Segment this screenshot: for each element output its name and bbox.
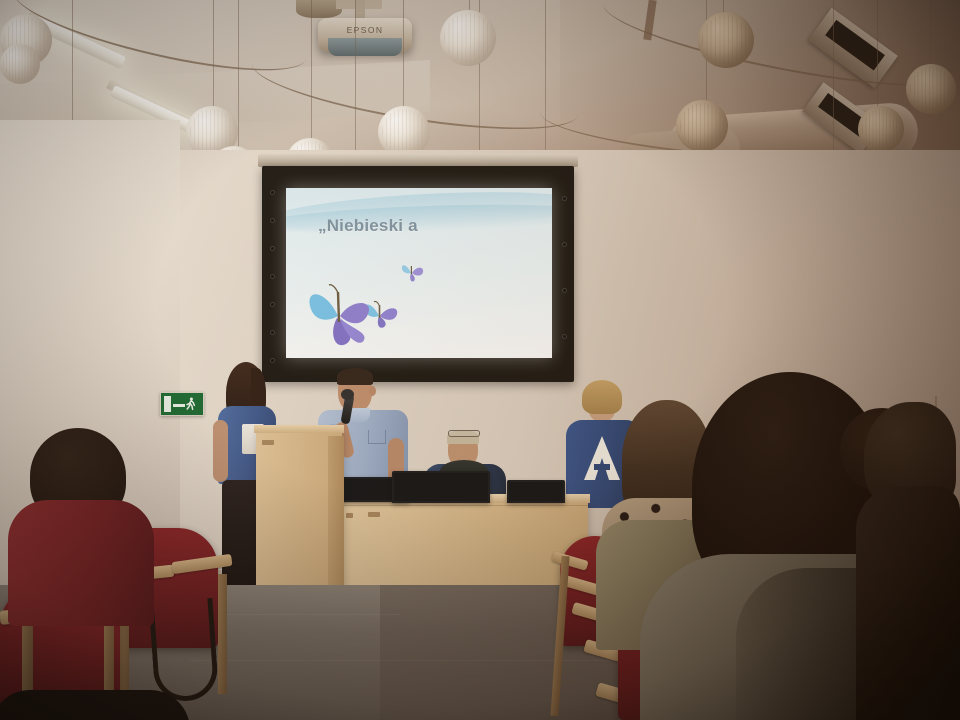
lantern-wire-3: [238, 0, 239, 148]
microphone-head-icon: [341, 389, 354, 400]
screen-grommet: [270, 330, 275, 335]
table-latch: [368, 512, 380, 517]
laptop-right-screen: [509, 482, 563, 501]
glasses-on-head-icon: [448, 430, 480, 437]
audience-right-dark: [856, 402, 960, 720]
lantern-wire-8: [545, 0, 546, 168]
bag-strap: [149, 598, 220, 703]
butterfly-large-icon: [304, 276, 380, 358]
presentation-slide: „Niebieski a: [286, 188, 552, 358]
projection-screen: „Niebieski a: [262, 166, 574, 382]
lantern-wire-12: [877, 0, 878, 106]
lantern-wire-14: [355, 0, 356, 160]
paper-lantern-9: [440, 10, 496, 66]
speaker-man-hair: [337, 368, 373, 385]
laptop-center[interactable]: [392, 471, 490, 503]
screen-grommet: [270, 274, 275, 279]
screen-grommet: [270, 302, 275, 307]
presenter-woman-arm: [213, 420, 228, 482]
screen-grommet: [270, 190, 275, 195]
table-latch: [346, 513, 353, 518]
table-seam: [340, 505, 588, 506]
audience-left-top: [8, 500, 154, 626]
podium-latch: [262, 440, 274, 445]
speaker-man-ear: [369, 386, 376, 396]
conference-hall-photo: EPSON: [0, 0, 960, 720]
paper-lantern-2: [0, 44, 40, 84]
butterfly-small-icon: [398, 260, 428, 291]
screen-grommet: [270, 218, 275, 223]
screen-grommet: [562, 334, 567, 339]
paper-lantern-13: [676, 100, 728, 152]
lantern-wire-2: [213, 0, 214, 108]
screen-grommet: [562, 242, 567, 247]
laptop-center-screen: [394, 473, 488, 501]
foreground-silhouette-left: [0, 690, 190, 720]
audience-right-body: [856, 486, 960, 720]
paper-lantern-12: [698, 12, 754, 68]
podium-top-surface: [254, 425, 344, 433]
paper-lantern-15: [858, 106, 904, 152]
audience-left-red: [8, 428, 158, 628]
screen-grommet: [562, 196, 567, 201]
paper-lantern-14: [906, 64, 956, 114]
exit-arrow-icon: [173, 404, 185, 407]
lantern-wire-13: [930, 0, 931, 68]
laptop-right[interactable]: [507, 480, 565, 503]
chair-leg: [218, 574, 227, 694]
projector-brand-label: EPSON: [318, 25, 412, 35]
screen-grommet: [270, 246, 275, 251]
lantern-wire-11: [833, 0, 834, 164]
slide-title-text: „Niebieski a: [318, 216, 418, 236]
lantern-wire-4: [311, 0, 312, 140]
exit-door-icon: [164, 396, 171, 412]
running-person-icon: [185, 397, 196, 411]
ceiling-projector: EPSON: [318, 18, 412, 52]
lantern-wire-5: [403, 0, 404, 108]
speaker-man-shirt-pocket: [368, 430, 386, 444]
floor-tile-line: [190, 660, 670, 661]
emergency-exit-sign: [160, 392, 204, 416]
lantern-wire-1: [72, 0, 73, 140]
screen-grommet: [562, 288, 567, 293]
